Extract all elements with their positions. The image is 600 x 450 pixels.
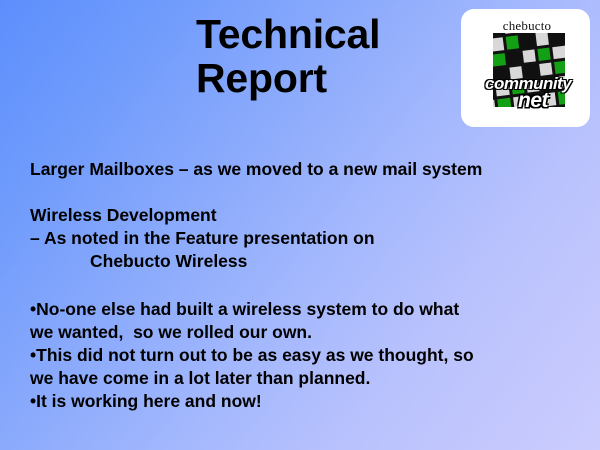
slide-title-line-2: Report [196,56,476,100]
body-line-mailboxes: Larger Mailboxes – as we moved to a new … [30,158,575,181]
slide-title: Technical Report [196,12,476,100]
spacer [30,181,575,204]
body-line-wireless-note: – As noted in the Feature presentation o… [30,227,575,250]
spacer [30,273,575,298]
bullet-3: •It is working here and now! [30,390,575,413]
slide-title-line-1: Technical [196,12,476,56]
body-line-wireless-heading: Wireless Development [30,204,575,227]
logo-text-chebucto: chebucto [483,19,571,33]
bullet-2-line-1: •This did not turn out to be as easy as … [30,344,575,367]
body-line-wireless-note-continued: Chebucto Wireless [30,250,575,273]
logo-text-net: net [501,90,565,111]
chebucto-community-net-logo: chebucto community net [461,9,590,127]
logo-graphic: chebucto community net [483,19,571,117]
slide-body: Larger Mailboxes – as we moved to a new … [30,158,575,413]
presentation-slide: Technical Report chebucto community net [0,0,600,450]
bullet-1-line-1: •No-one else had built a wireless system… [30,298,575,321]
bullet-2-line-2: we have come in a lot later than planned… [30,367,575,390]
bullet-1-line-2: we wanted, so we rolled our own. [30,321,575,344]
